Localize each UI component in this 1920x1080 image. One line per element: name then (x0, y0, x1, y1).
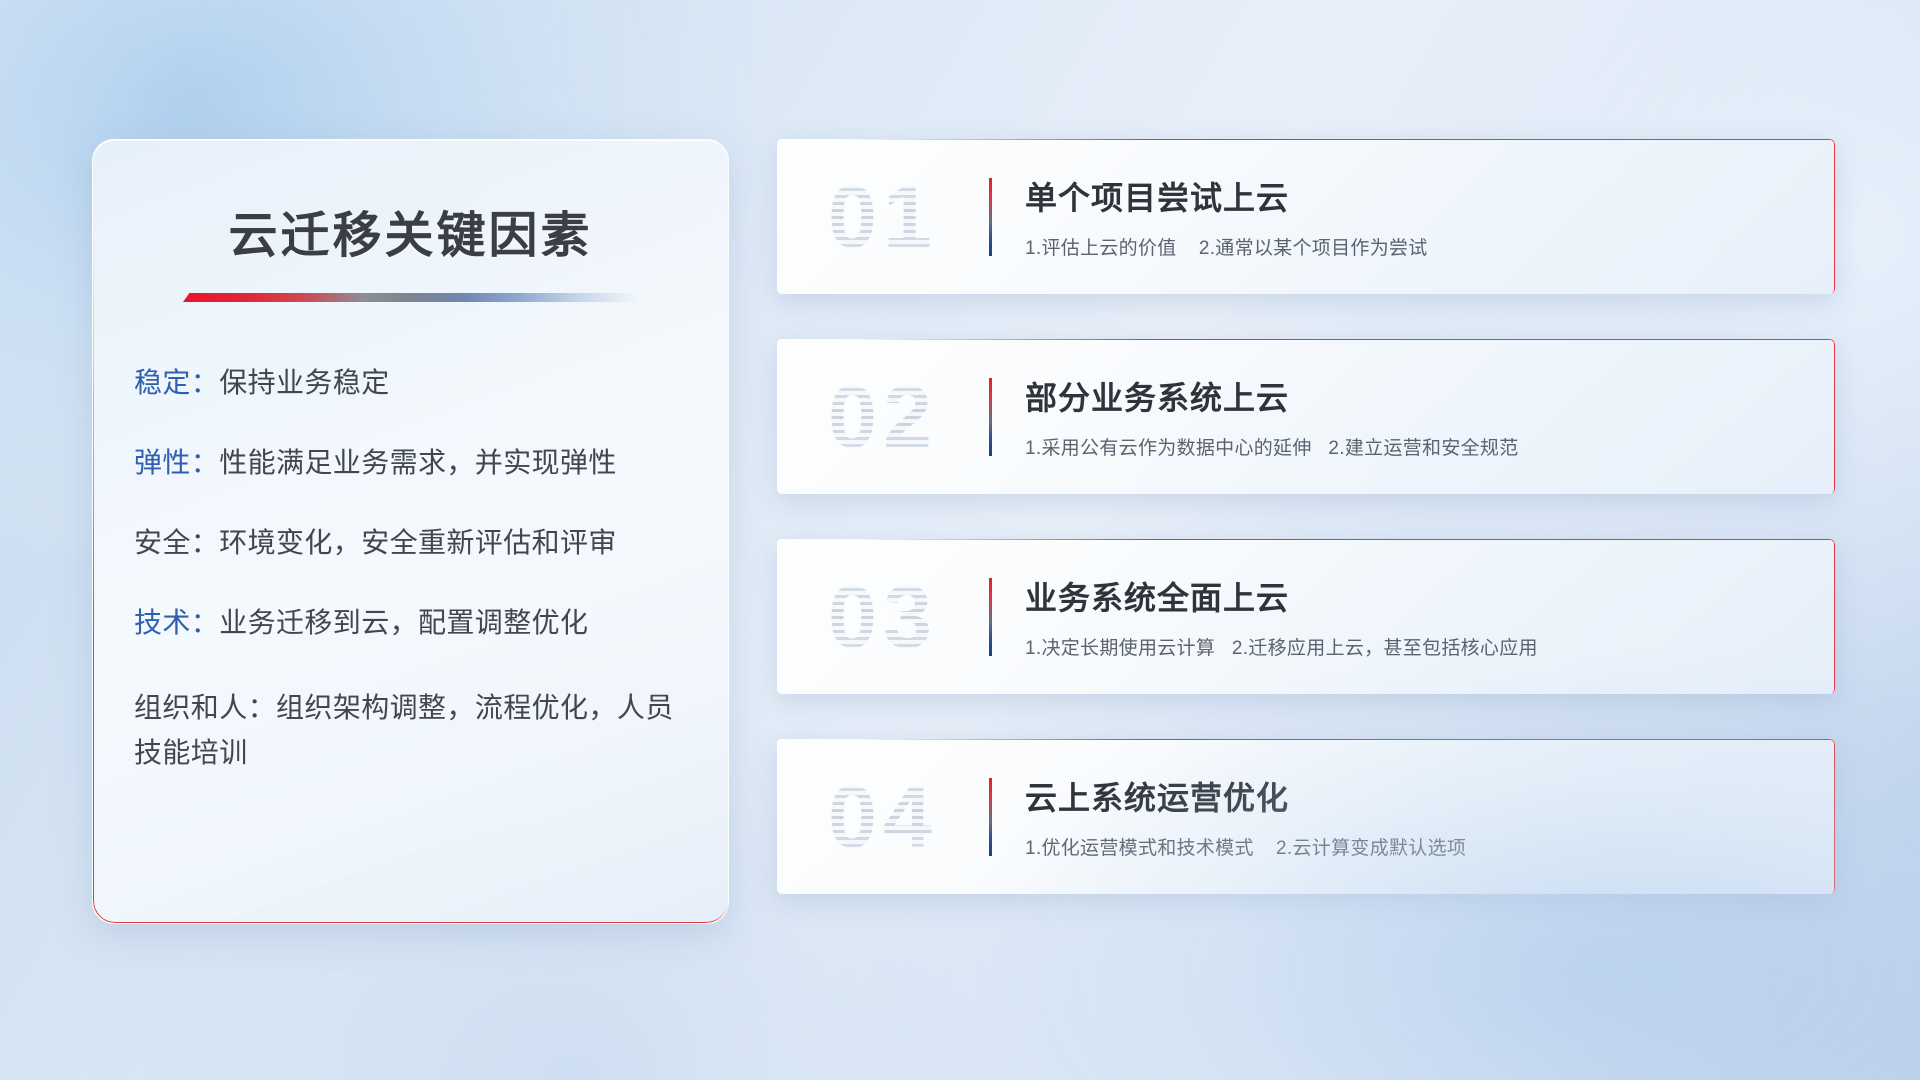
card-body: 单个项目尝试上云 1.评估上云的价值 2.通常以某个项目作为尝试 (1025, 173, 1835, 260)
card-divider-bar (989, 778, 992, 856)
factors-list: 稳定：保持业务稳定 弹性：性能满足业务需求，并实现弹性 安全：环境变化，安全重新… (93, 365, 728, 776)
factor-key: 安全： (134, 527, 219, 558)
stages-card-list: 01 单个项目尝试上云 1.评估上云的价值 2.通常以某个项目作为尝试 02 部… (777, 139, 1835, 894)
card-title: 单个项目尝试上云 (1025, 173, 1811, 219)
factor-text: 保持业务稳定 (219, 367, 389, 398)
slide-canvas: 云迁移关键因素 稳定：保持业务稳定 弹性：性能满足业务需求，并实现弹性 安全：环… (0, 0, 1920, 1080)
stage-number-text: 04 (828, 766, 938, 868)
title-underline-gradient (183, 293, 638, 302)
card-subtitle: 1.评估上云的价值 2.通常以某个项目作为尝试 (1025, 233, 1811, 260)
stage-number: 04 (777, 739, 989, 894)
card-title: 云上系统运营优化 (1025, 773, 1811, 819)
list-item: 弹性：性能满足业务需求，并实现弹性 (134, 445, 700, 482)
stage-number-text: 02 (828, 366, 938, 468)
card-title: 业务系统全面上云 (1025, 573, 1811, 619)
stage-number-text: 03 (828, 566, 938, 668)
factor-text: 环境变化，安全重新评估和评审 (219, 527, 617, 558)
stage-number: 02 (777, 339, 989, 494)
key-factors-panel: 云迁移关键因素 稳定：保持业务稳定 弹性：性能满足业务需求，并实现弹性 安全：环… (92, 139, 729, 924)
stage-number-text: 01 (828, 166, 938, 268)
page-title: 云迁移关键因素 (93, 196, 728, 267)
card-subtitle: 1.决定长期使用云计算 2.迁移应用上云，甚至包括核心应用 (1025, 633, 1811, 660)
card-divider-bar (989, 378, 992, 456)
stage-card-01[interactable]: 01 单个项目尝试上云 1.评估上云的价值 2.通常以某个项目作为尝试 (777, 139, 1835, 294)
factor-key: 稳定： (134, 367, 219, 398)
list-item: 技术：业务迁移到云，配置调整优化 (134, 605, 700, 642)
factor-key: 组织和人： (134, 692, 276, 723)
card-body: 部分业务系统上云 1.采用公有云作为数据中心的延伸 2.建立运营和安全规范 (1025, 373, 1835, 460)
stage-number: 01 (777, 139, 989, 294)
stage-card-03[interactable]: 03 业务系统全面上云 1.决定长期使用云计算 2.迁移应用上云，甚至包括核心应… (777, 539, 1835, 694)
list-item: 安全：环境变化，安全重新评估和评审 (134, 525, 700, 562)
list-item: 稳定：保持业务稳定 (134, 365, 700, 402)
factor-key: 技术： (134, 607, 219, 638)
stage-number: 03 (777, 539, 989, 694)
stage-card-04[interactable]: 04 云上系统运营优化 1.优化运营模式和技术模式 2.云计算变成默认选项 (777, 739, 1835, 894)
card-body: 业务系统全面上云 1.决定长期使用云计算 2.迁移应用上云，甚至包括核心应用 (1025, 573, 1835, 660)
card-body: 云上系统运营优化 1.优化运营模式和技术模式 2.云计算变成默认选项 (1025, 773, 1835, 860)
stage-card-02[interactable]: 02 部分业务系统上云 1.采用公有云作为数据中心的延伸 2.建立运营和安全规范 (777, 339, 1835, 494)
card-title: 部分业务系统上云 (1025, 373, 1811, 419)
card-subtitle: 1.优化运营模式和技术模式 2.云计算变成默认选项 (1025, 833, 1811, 860)
card-subtitle: 1.采用公有云作为数据中心的延伸 2.建立运营和安全规范 (1025, 433, 1811, 460)
card-divider-bar (989, 178, 992, 256)
factor-text: 性能满足业务需求，并实现弹性 (219, 447, 617, 478)
factor-key: 弹性： (134, 447, 219, 478)
list-item: 组织和人：组织架构调整，流程优化，人员技能培训 (134, 685, 700, 776)
card-divider-bar (989, 578, 992, 656)
factor-text: 业务迁移到云，配置调整优化 (219, 607, 588, 638)
